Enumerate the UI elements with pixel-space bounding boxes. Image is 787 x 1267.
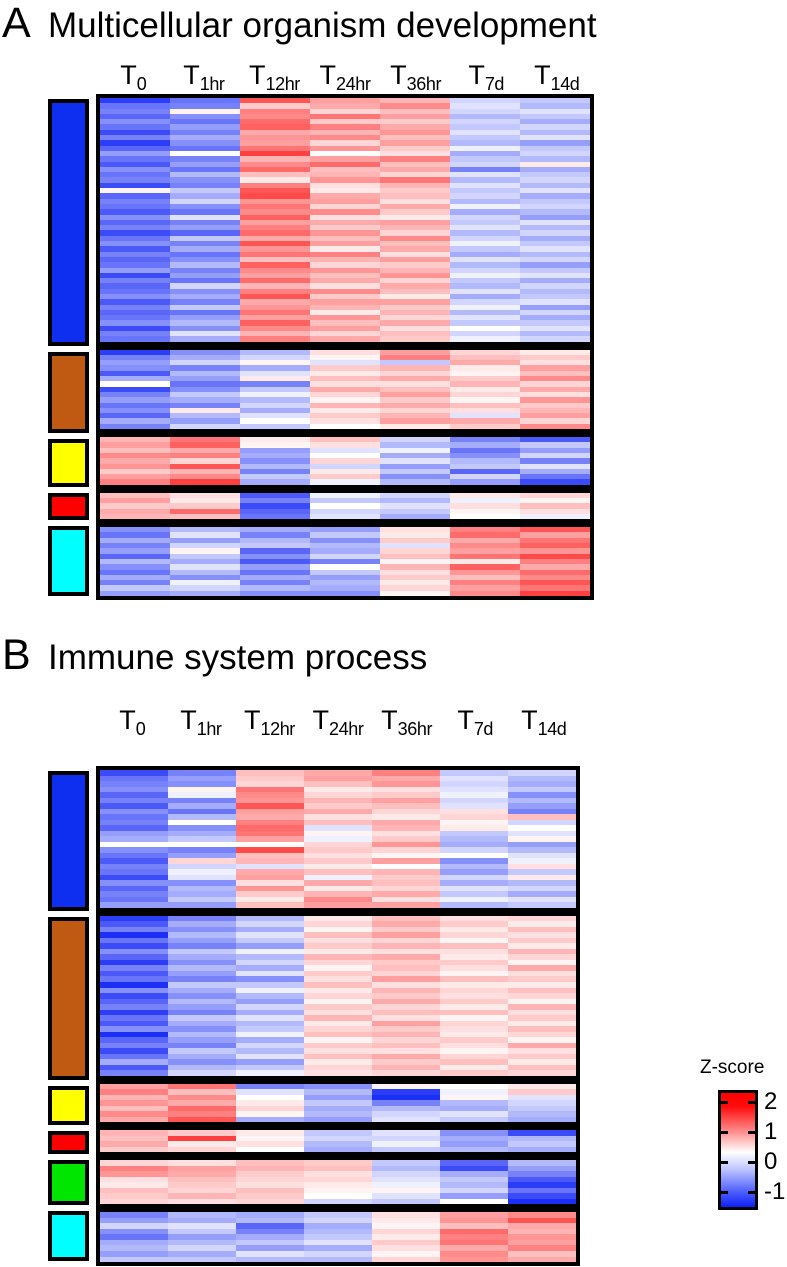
heatmap-cell (508, 1117, 576, 1123)
column-header-base: T (119, 707, 136, 734)
cluster-bar-wrap-yellow (48, 436, 89, 490)
cluster-bar-wrap-cyan (48, 523, 89, 599)
column-header-base: T (120, 62, 137, 89)
heatmap-row (100, 1147, 576, 1153)
cluster-bar-blue[interactable] (48, 99, 89, 346)
heatmap-cell (240, 591, 310, 596)
heatmap-cell (100, 336, 170, 341)
heatmap-cell (100, 1147, 168, 1153)
heatmap-cell (236, 1257, 304, 1263)
heatmap-block-brown (96, 346, 594, 433)
column-header-base: T (183, 62, 200, 89)
heatmap-block-blue (96, 94, 594, 346)
column-header-base: T (468, 62, 485, 89)
heatmap-cell (236, 1199, 304, 1205)
panel-a-cluster-bars (48, 96, 89, 599)
heatmap-cell (100, 514, 170, 519)
heatmap-cell (372, 1070, 440, 1076)
column-header-t0: T0 (98, 55, 169, 89)
heatmap-block-green (96, 1156, 580, 1208)
heatmap-block-yellow (96, 433, 594, 489)
heatmap-cell (100, 424, 170, 429)
column-header-t36hr: T36hr (372, 700, 441, 734)
column-header-t7d: T7d (451, 55, 522, 89)
heatmap-cell (440, 1199, 508, 1205)
heatmap-cell (520, 424, 590, 429)
column-header-base: T (390, 62, 407, 89)
panel-b-title: Immune system process (48, 640, 427, 675)
column-header-subscript: 14d (551, 75, 580, 93)
heatmap-block-cyan (96, 1208, 580, 1266)
heatmap-cell (100, 1070, 168, 1076)
heatmap-cell (450, 424, 520, 429)
heatmap-row (100, 1257, 576, 1263)
column-header-base: T (521, 707, 538, 734)
legend-tick-mark (719, 1101, 728, 1104)
column-header-base: T (313, 707, 330, 734)
heatmap-cell (100, 1257, 168, 1263)
column-header-t24hr: T24hr (304, 700, 373, 734)
column-header-base: T (381, 707, 398, 734)
heatmap-block-yellow (96, 1080, 580, 1127)
heatmap-block-red (96, 1126, 580, 1156)
heatmap-cell (508, 1070, 576, 1076)
heatmap-block-brown (96, 912, 580, 1080)
heatmap-cell (380, 591, 450, 596)
heatmap-cell (240, 514, 310, 519)
cluster-bar-wrap-yellow (48, 1083, 89, 1128)
heatmap-cell (168, 1117, 236, 1123)
column-header-subscript: 1hr (197, 720, 222, 738)
heatmap-block-blue (96, 766, 580, 912)
heatmap-row (100, 479, 590, 484)
cluster-bar-wrap-brown (48, 914, 89, 1083)
heatmap-block-cyan (96, 523, 594, 600)
panel-b-column-headers: T0T1hrT12hrT24hrT36hrT7dT14d (98, 700, 578, 734)
heatmap-block-red (96, 489, 594, 523)
heatmap-cell (440, 902, 508, 908)
heatmap-cell (236, 902, 304, 908)
heatmap-cell (450, 591, 520, 596)
heatmap-cell (236, 1147, 304, 1153)
column-header-t36hr: T36hr (380, 55, 451, 89)
heatmap-cell (520, 591, 590, 596)
legend-label-neg1: -1 (764, 1180, 785, 1204)
heatmap-row (100, 336, 590, 341)
column-header-subscript: 7d (485, 75, 504, 93)
column-header-base: T (180, 707, 197, 734)
heatmap-cell (310, 479, 380, 484)
heatmap-cell (100, 1199, 168, 1205)
heatmap-cell (170, 336, 240, 341)
cluster-bar-brown[interactable] (48, 917, 89, 1080)
column-header-subscript: 24hr (329, 720, 363, 738)
panel-b-heatmap (96, 766, 580, 1266)
heatmap-cell (236, 1070, 304, 1076)
heatmap-cell (304, 1257, 372, 1263)
column-header-t7d: T7d (441, 700, 510, 734)
column-header-base: T (320, 62, 337, 89)
heatmap-cell (380, 514, 450, 519)
cluster-bar-brown[interactable] (48, 352, 89, 433)
column-header-subscript: 1hr (200, 75, 225, 93)
cluster-bar-blue[interactable] (48, 771, 89, 911)
heatmap-row (100, 902, 576, 908)
heatmap-cell (236, 1117, 304, 1123)
heatmap-cell (380, 424, 450, 429)
heatmap-cell (304, 1070, 372, 1076)
heatmap-row (100, 514, 590, 519)
column-header-subscript: 0 (136, 720, 146, 738)
heatmap-cell (508, 1257, 576, 1263)
heatmap-row (100, 1070, 576, 1076)
heatmap-cell (170, 514, 240, 519)
cluster-bar-wrap-red (48, 490, 89, 523)
cluster-bar-red[interactable] (48, 493, 89, 520)
heatmap-cell (100, 1117, 168, 1123)
heatmap-row (100, 1117, 576, 1123)
heatmap-cell (240, 479, 310, 484)
heatmap-cell (100, 902, 168, 908)
column-header-subscript: 36hr (398, 720, 432, 738)
heatmap-cell (304, 1117, 372, 1123)
heatmap-cell (310, 424, 380, 429)
heatmap-cell (310, 514, 380, 519)
heatmap-cell (304, 1199, 372, 1205)
heatmap-row (100, 424, 590, 429)
cluster-bar-yellow[interactable] (48, 1086, 89, 1125)
heatmap-cell (440, 1257, 508, 1263)
heatmap-cell (380, 336, 450, 341)
heatmap-cell (520, 479, 590, 484)
heatmap-cell (168, 1070, 236, 1076)
heatmap-cell (100, 591, 170, 596)
heatmap-cell (450, 514, 520, 519)
legend-tick-mark (719, 1131, 728, 1134)
panel-a-letter: A (2, 2, 30, 45)
column-header-t14d: T14d (509, 700, 578, 734)
heatmap-cell (168, 902, 236, 908)
panel-a-heatmap (96, 94, 594, 600)
column-header-t1hr: T1hr (169, 55, 240, 89)
cluster-bar-wrap-brown (48, 349, 89, 436)
column-header-t24hr: T24hr (310, 55, 381, 89)
heatmap-cell (440, 1070, 508, 1076)
cluster-bar-cyan[interactable] (48, 526, 89, 596)
column-header-subscript: 24hr (336, 75, 370, 93)
column-header-base: T (244, 707, 261, 734)
heatmap-cell (304, 1147, 372, 1153)
legend-label-1: 1 (764, 1120, 777, 1144)
panel-a-column-headers: T0T1hrT12hrT24hrT36hrT7dT14d (98, 55, 592, 89)
column-header-subscript: 12hr (265, 75, 299, 93)
legend-title: Z-score (700, 1058, 764, 1077)
heatmap-row (100, 591, 590, 596)
heatmap-cell (240, 424, 310, 429)
heatmap-cell (168, 1147, 236, 1153)
heatmap-cell (170, 591, 240, 596)
legend-tick-mark (748, 1161, 757, 1164)
cluster-bar-wrap-green (48, 1157, 89, 1208)
legend-tick-mark (719, 1161, 728, 1164)
cluster-bar-wrap-cyan (48, 1208, 89, 1264)
column-header-base: T (534, 62, 551, 89)
legend-tick-mark (719, 1191, 728, 1194)
legend-tick-mark (748, 1131, 757, 1134)
heatmap-cell (310, 336, 380, 341)
cluster-bar-green[interactable] (48, 1160, 89, 1205)
column-header-t1hr: T1hr (167, 700, 236, 734)
heatmap-cell (372, 1117, 440, 1123)
heatmap-cell (450, 336, 520, 341)
column-header-subscript: 12hr (260, 720, 294, 738)
column-header-base: T (249, 62, 266, 89)
cluster-bar-wrap-blue (48, 768, 89, 914)
heatmap-cell (508, 902, 576, 908)
heatmap-cell (508, 1199, 576, 1205)
cluster-bar-cyan[interactable] (48, 1211, 89, 1261)
cluster-bar-wrap-blue (48, 96, 89, 349)
column-header-t12hr: T12hr (239, 55, 310, 89)
heatmap-row (100, 1199, 576, 1205)
heatmap-cell (170, 424, 240, 429)
heatmap-cell (372, 902, 440, 908)
heatmap-cell (168, 1199, 236, 1205)
column-header-subscript: 36hr (407, 75, 441, 93)
panel-b-cluster-bars (48, 768, 89, 1264)
cluster-bar-yellow[interactable] (48, 439, 89, 487)
column-header-t0: T0 (98, 700, 167, 734)
heatmap-cell (440, 1147, 508, 1153)
cluster-bar-red[interactable] (48, 1131, 89, 1153)
panel-a-title: Multicellular organism development (48, 8, 597, 43)
heatmap-cell (372, 1257, 440, 1263)
column-header-t12hr: T12hr (235, 700, 304, 734)
column-header-base: T (457, 707, 474, 734)
heatmap-cell (170, 479, 240, 484)
legend-tick-mark (748, 1191, 757, 1194)
column-header-subscript: 14d (538, 720, 567, 738)
heatmap-cell (100, 479, 170, 484)
heatmap-cell (168, 1257, 236, 1263)
heatmap-cell (508, 1147, 576, 1153)
heatmap-cell (450, 479, 520, 484)
column-header-subscript: 0 (137, 75, 147, 93)
heatmap-cell (440, 1117, 508, 1123)
heatmap-cell (240, 336, 310, 341)
column-header-subscript: 7d (474, 720, 493, 738)
legend-tick-mark (748, 1101, 757, 1104)
heatmap-cell (304, 902, 372, 908)
heatmap-cell (372, 1199, 440, 1205)
heatmap-cell (380, 479, 450, 484)
column-header-t14d: T14d (521, 55, 592, 89)
heatmap-cell (520, 514, 590, 519)
heatmap-cell (520, 336, 590, 341)
heatmap-cell (310, 591, 380, 596)
panel-b-letter: B (2, 634, 30, 677)
legend-label-0: 0 (764, 1150, 777, 1174)
legend-label-2: 2 (764, 1090, 777, 1114)
heatmap-cell (372, 1147, 440, 1153)
cluster-bar-wrap-red (48, 1128, 89, 1156)
